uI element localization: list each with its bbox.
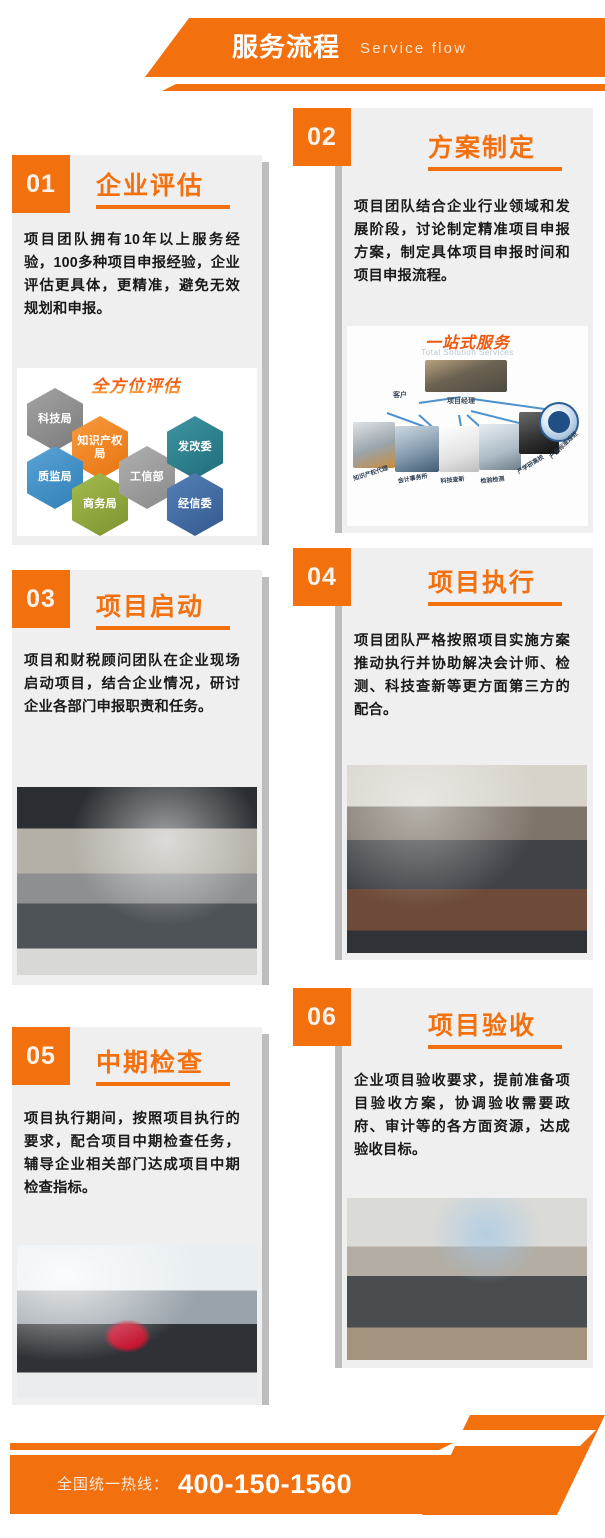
- card-03-body: 项目和财税顾问团队在企业现场启动项目，结合企业情况，研讨企业各部门申报职责和任务…: [24, 650, 240, 719]
- card-04-photo-content: [347, 765, 587, 953]
- card-02-shadow: [335, 115, 342, 533]
- service-branch-photo-1: [353, 422, 395, 468]
- card-06-title-underline: [428, 1045, 562, 1049]
- hexagon-node-label: 知识产权局: [72, 435, 128, 461]
- card-04-title-underline: [428, 602, 562, 606]
- service-branch-label-3: 科技查新: [440, 473, 465, 484]
- card-03-number-badge: 03: [12, 570, 70, 628]
- footer-accent-rule: [10, 1443, 453, 1450]
- card-04-shadow: [335, 555, 342, 960]
- page-subtitle: Service flow: [360, 37, 467, 61]
- card-04-body: 项目团队严格按照项目实施方案推动执行并协助解决会计师、检测、科技查新等更方面第三…: [354, 630, 570, 722]
- card-03-title-underline: [96, 626, 230, 630]
- card-05-title-underline: [96, 1082, 230, 1086]
- service-diagram-top-photo: [425, 360, 507, 392]
- footer-wedge-gap: [436, 1430, 596, 1446]
- service-branch-photo-4: [479, 424, 521, 470]
- card-06-photo-content: [347, 1198, 587, 1360]
- hotline-number[interactable]: 400-150-1560: [178, 1464, 352, 1504]
- hexagon-chart-title: 全方位评估: [91, 372, 181, 397]
- card-01-hexagon-chart: 全方位评估 科技局 知识产权局 质监局 商务局 工信部 发改委 经信委: [17, 368, 257, 536]
- hexagon-node-label: 发改委: [178, 441, 212, 454]
- card-03-photo-content: [17, 787, 257, 975]
- card-02-title-underline: [428, 167, 562, 171]
- hexagon-node-label: 工信部: [130, 471, 164, 484]
- card-06-number-badge: 06: [293, 988, 351, 1046]
- card-02-title: 方案制定: [428, 128, 536, 164]
- card-05-shadow: [262, 1034, 269, 1405]
- service-branch-label-2: 会计事务所: [397, 471, 428, 485]
- card-01-title: 企业评估: [96, 166, 204, 202]
- card-05-number-badge: 05: [12, 1027, 70, 1085]
- card-06-photo: [347, 1198, 587, 1360]
- service-node-manager: 项目经理: [447, 396, 475, 406]
- hotline-label: 全国统一热线：: [57, 1472, 169, 1498]
- card-06-title: 项目验收: [428, 1006, 536, 1042]
- card-04-number-badge: 04: [293, 548, 351, 606]
- card-03-photo: [17, 787, 257, 975]
- service-branch-label-4: 检验检测: [480, 473, 505, 484]
- card-01-title-underline: [96, 205, 230, 209]
- service-diagram-subtitle: Total Solution Services: [421, 348, 513, 357]
- hexagon-node-label: 科技局: [38, 413, 72, 426]
- card-02-service-diagram: 一站式服务 Total Solution Services 客户 项目经理 知识…: [347, 326, 588, 526]
- hexagon-node-label: 质监局: [38, 471, 72, 484]
- card-06-shadow: [335, 995, 342, 1368]
- card-01-number-badge: 01: [12, 155, 70, 213]
- page-header: 服务流程 Service flow: [0, 0, 605, 108]
- service-flow-infographic: 服务流程 Service flow 01 企业评估 项目团队拥有10年以上服务经…: [0, 0, 605, 1538]
- card-05-title: 中期检查: [96, 1043, 204, 1079]
- card-03-shadow: [262, 577, 269, 985]
- card-03-title: 项目启动: [96, 587, 204, 623]
- service-node-client: 客户: [393, 390, 407, 400]
- card-01-shadow: [262, 162, 269, 545]
- service-branch-photo-2: [395, 426, 439, 472]
- card-06-body: 企业项目验收要求，提前准备项目验收方案，协调验收需要政府、审计等的各方面资源，达…: [354, 1070, 570, 1162]
- card-05-body: 项目执行期间，按照项目执行的要求，配合项目中期检查任务，辅导企业相关部门达成项目…: [24, 1108, 240, 1200]
- hexagon-node-fgw: 发改委: [167, 416, 223, 479]
- card-02-number-badge: 02: [293, 108, 351, 166]
- card-01-body: 项目团队拥有10年以上服务经验，100多种项目申报经验，企业评估更具体，更精准，…: [24, 229, 240, 321]
- card-05-photo-content: [17, 1245, 257, 1397]
- service-branch-photo-3: [439, 426, 479, 472]
- hexagon-node-label: 商务局: [83, 498, 117, 511]
- hexagon-node-label: 经信委: [178, 498, 212, 511]
- card-05-photo: [17, 1245, 257, 1397]
- card-04-photo: [347, 765, 587, 953]
- page-title: 服务流程: [232, 27, 340, 67]
- hexagon-node-jxw: 经信委: [167, 473, 223, 536]
- header-accent-rule: [162, 84, 605, 91]
- card-02-body: 项目团队结合企业行业领域和发展阶段，讨论制定精准项目申报方案，制定具体项目申报时…: [354, 196, 570, 288]
- card-04-title: 项目执行: [428, 563, 536, 599]
